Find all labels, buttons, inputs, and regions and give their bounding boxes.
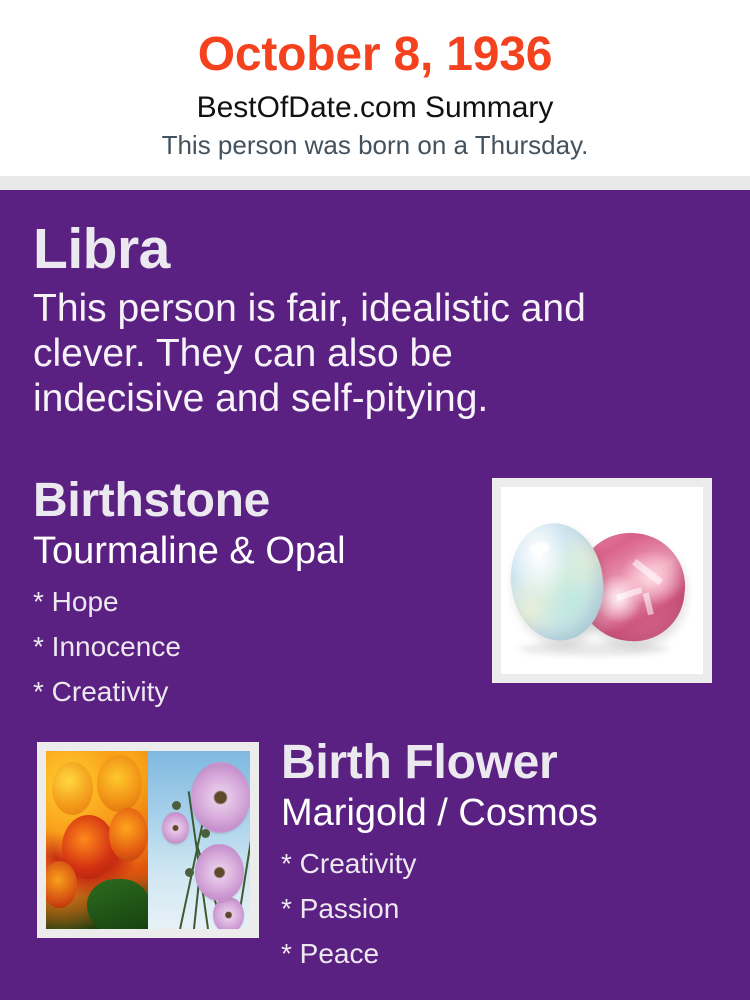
birth-flower-traits-list: * Creativity * Passion * Peace — [281, 835, 721, 976]
birth-flower-trait-0: * Creativity — [281, 848, 416, 879]
birthstone-image-frame — [492, 478, 712, 683]
zodiac-section: Libra This person is fair, idealistic an… — [33, 218, 673, 421]
zodiac-sign-title: Libra — [33, 218, 673, 280]
cosmos-bloom — [213, 897, 244, 929]
facet-highlight — [643, 593, 654, 616]
list-item: * Creativity — [281, 841, 721, 886]
marigold-bloom — [109, 808, 148, 861]
cosmos-bud — [172, 801, 181, 810]
facet-highlight — [616, 587, 643, 601]
cosmos-bud — [201, 829, 210, 838]
cosmos-photo-icon — [148, 751, 250, 929]
birthstone-trait-2: * Creativity — [33, 676, 168, 707]
birth-weekday-note: This person was born on a Thursday. — [0, 126, 750, 161]
list-item: * Peace — [281, 931, 721, 976]
zodiac-description: This person is fair, idealistic and clev… — [33, 280, 623, 421]
birth-flower-image — [46, 751, 250, 929]
birthstone-section: Birthstone Tourmaline & Opal * Hope * In… — [33, 473, 473, 714]
marigold-bloom — [97, 755, 142, 812]
card-header: October 8, 1936 BestOfDate.com Summary T… — [0, 0, 750, 176]
marigold-bloom — [46, 861, 77, 907]
facet-highlight — [632, 559, 663, 585]
list-item: * Passion — [281, 886, 721, 931]
birth-flower-section: Birth Flower Marigold / Cosmos * Creativ… — [281, 735, 721, 976]
birth-flower-trait-2: * Peace — [281, 938, 379, 969]
birthstone-names: Tourmaline & Opal — [33, 529, 473, 573]
cosmos-bud — [185, 868, 194, 877]
list-item: * Innocence — [33, 624, 473, 669]
birth-flower-trait-1: * Passion — [281, 893, 399, 924]
birthstone-image — [501, 487, 703, 674]
birth-flower-image-frame — [37, 742, 259, 938]
cosmos-bloom — [162, 812, 189, 844]
gemstone-shadow — [519, 642, 669, 656]
details-panel: Libra This person is fair, idealistic an… — [0, 190, 750, 1000]
list-item: * Creativity — [33, 669, 473, 714]
marigold-foliage — [87, 879, 150, 929]
cosmos-bloom — [195, 844, 244, 901]
list-item: * Hope — [33, 579, 473, 624]
birthstone-trait-0: * Hope — [33, 586, 119, 617]
cosmos-bloom — [191, 762, 250, 833]
marigold-photo-icon — [46, 751, 148, 929]
birthstone-trait-1: * Innocence — [33, 631, 181, 662]
marigold-bloom — [52, 762, 93, 815]
birth-flower-title: Birth Flower — [281, 735, 721, 791]
birth-flower-names: Marigold / Cosmos — [281, 791, 721, 835]
site-subtitle: BestOfDate.com Summary — [0, 84, 750, 126]
birthstone-title: Birthstone — [33, 473, 473, 529]
header-divider — [0, 176, 750, 190]
birthstone-traits-list: * Hope * Innocence * Creativity — [33, 573, 473, 714]
opal-cabochon-icon — [503, 517, 611, 647]
page-title: October 8, 1936 — [0, 0, 750, 84]
summary-card: October 8, 1936 BestOfDate.com Summary T… — [0, 0, 750, 1000]
